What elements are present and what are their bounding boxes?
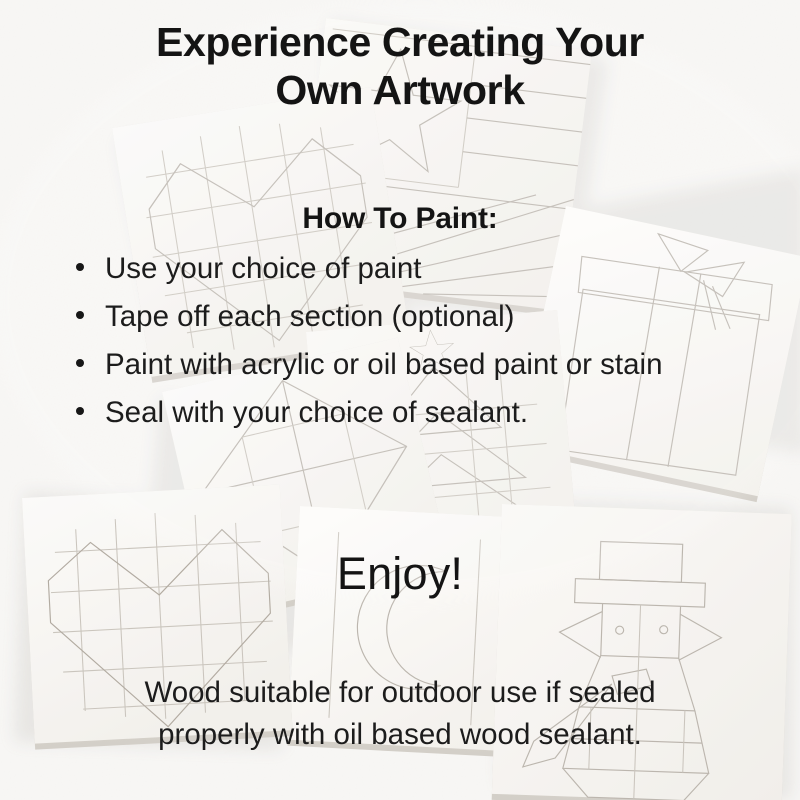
page-title-line-1: Experience Creating Your	[0, 18, 800, 66]
enjoy-heading: Enjoy!	[0, 548, 800, 600]
footer-note-line-2: properly with oil based wood sealant.	[0, 714, 800, 756]
how-to-paint-heading: How To Paint:	[0, 202, 800, 236]
infographic-canvas: .eng { fill:none; stroke:#b2aca3; stroke…	[0, 0, 800, 800]
list-item-label: Paint with acrylic or oil based paint or…	[105, 348, 663, 381]
page-title: Experience Creating Your Own Artwork	[0, 18, 800, 115]
list-item-label: Tape off each section (optional)	[105, 300, 514, 333]
bullet-dot-icon	[76, 311, 84, 319]
bullet-dot-icon	[76, 359, 84, 367]
footer-note-line-1: Wood suitable for outdoor use if sealed	[0, 672, 800, 714]
page-title-line-2: Own Artwork	[0, 66, 800, 114]
text-overlay: Experience Creating Your Own Artwork How…	[0, 0, 800, 800]
list-item: Tape off each section (optional)	[72, 296, 760, 338]
list-item: Seal with your choice of sealant.	[72, 392, 760, 434]
how-to-paint-list: Use your choice of paint Tape off each s…	[72, 248, 760, 440]
list-item-label: Seal with your choice of sealant.	[105, 396, 528, 429]
bullet-dot-icon	[76, 263, 84, 271]
list-item: Paint with acrylic or oil based paint or…	[72, 344, 760, 386]
list-item: Use your choice of paint	[72, 248, 760, 290]
bullet-dot-icon	[76, 407, 84, 415]
list-item-label: Use your choice of paint	[105, 252, 421, 285]
footer-note: Wood suitable for outdoor use if sealed …	[0, 672, 800, 756]
